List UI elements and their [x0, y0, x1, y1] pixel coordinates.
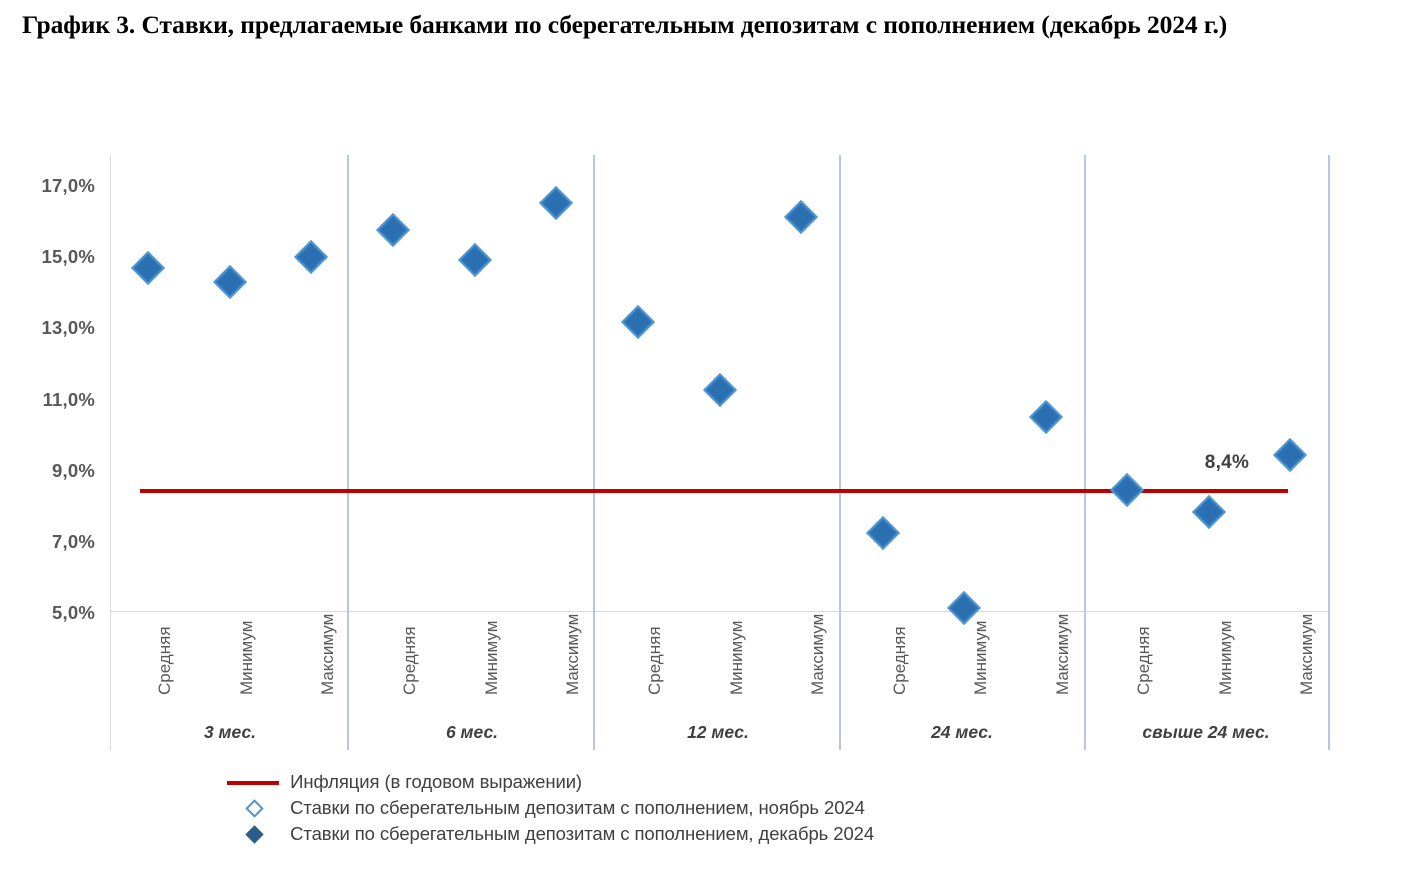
legend-item-november[interactable]: Ставки по сберегательным депозитам с поп… [225, 796, 985, 822]
legend-item-label: Ставки по сберегательным депозитам с поп… [290, 823, 874, 845]
x-category-label: Максимум [1053, 565, 1071, 695]
x-category-label: Минимум [482, 565, 500, 695]
x-category-label: Максимум [1297, 565, 1315, 695]
data-point-marker[interactable] [1273, 438, 1307, 472]
x-category-label: Средняя [890, 565, 908, 695]
x-group-label: 6 мес. [412, 722, 532, 743]
x-group-label: 3 мес. [170, 722, 290, 743]
group-separator-line [347, 155, 349, 750]
data-point-marker[interactable] [1110, 473, 1144, 507]
chart-legend: Инфляция (в годовом выражении) Ставки по… [225, 770, 985, 848]
data-point-marker[interactable] [458, 243, 492, 277]
legend-item-label: Ставки по сберегательным депозитам с поп… [290, 797, 865, 819]
legend-line-swatch [225, 771, 285, 793]
data-point-marker[interactable] [376, 213, 410, 247]
group-separator-line [1084, 155, 1086, 750]
data-point-marker[interactable] [131, 251, 165, 285]
data-point-marker[interactable] [1029, 400, 1063, 434]
data-point-marker[interactable] [294, 240, 328, 274]
x-group-label: свыше 24 мес. [1086, 722, 1326, 743]
hollow-diamond-icon [225, 797, 285, 819]
page-title: График 3. Ставки, предлагаемые банками п… [22, 6, 1382, 43]
x-group-label: 12 мес. [658, 722, 778, 743]
x-group-label: 24 мес. [902, 722, 1022, 743]
y-tick-label: 9,0% [0, 460, 95, 482]
data-point-marker[interactable] [866, 516, 900, 550]
legend-item-inflation[interactable]: Инфляция (в годовом выражении) [225, 770, 985, 796]
data-point-marker[interactable] [1192, 495, 1226, 529]
group-separator-line [1328, 155, 1330, 750]
y-tick-label: 17,0% [0, 175, 95, 197]
x-category-label: Максимум [318, 565, 336, 695]
y-tick-label: 5,0% [0, 602, 95, 624]
legend-item-label: Инфляция (в годовом выражении) [290, 771, 582, 793]
x-category-label: Средняя [400, 565, 418, 695]
y-tick-label: 15,0% [0, 246, 95, 268]
x-category-label: Максимум [808, 565, 826, 695]
x-category-label: Минимум [237, 565, 255, 695]
x-category-label: Минимум [971, 565, 989, 695]
inflation-value-label: 8,4% [1185, 452, 1269, 474]
x-category-label: Максимум [563, 565, 581, 695]
y-tick-label: 7,0% [0, 531, 95, 553]
data-point-marker[interactable] [784, 200, 818, 234]
filled-diamond-icon [225, 823, 285, 845]
y-tick-label: 11,0% [0, 389, 95, 411]
x-category-label: Минимум [1216, 565, 1234, 695]
x-category-label: Средняя [645, 565, 663, 695]
x-category-label: Средняя [1134, 565, 1152, 695]
x-category-label: Минимум [727, 565, 745, 695]
group-separator-line [839, 155, 841, 750]
group-separator-line [593, 155, 595, 750]
data-point-marker[interactable] [213, 265, 247, 299]
data-point-marker[interactable] [703, 373, 737, 407]
x-category-label: Средняя [155, 565, 173, 695]
y-tick-label: 13,0% [0, 317, 95, 339]
data-point-marker[interactable] [621, 305, 655, 339]
legend-item-december[interactable]: Ставки по сберегательным депозитам с поп… [225, 822, 985, 848]
y-axis-line [110, 155, 111, 751]
data-point-marker[interactable] [539, 186, 573, 220]
